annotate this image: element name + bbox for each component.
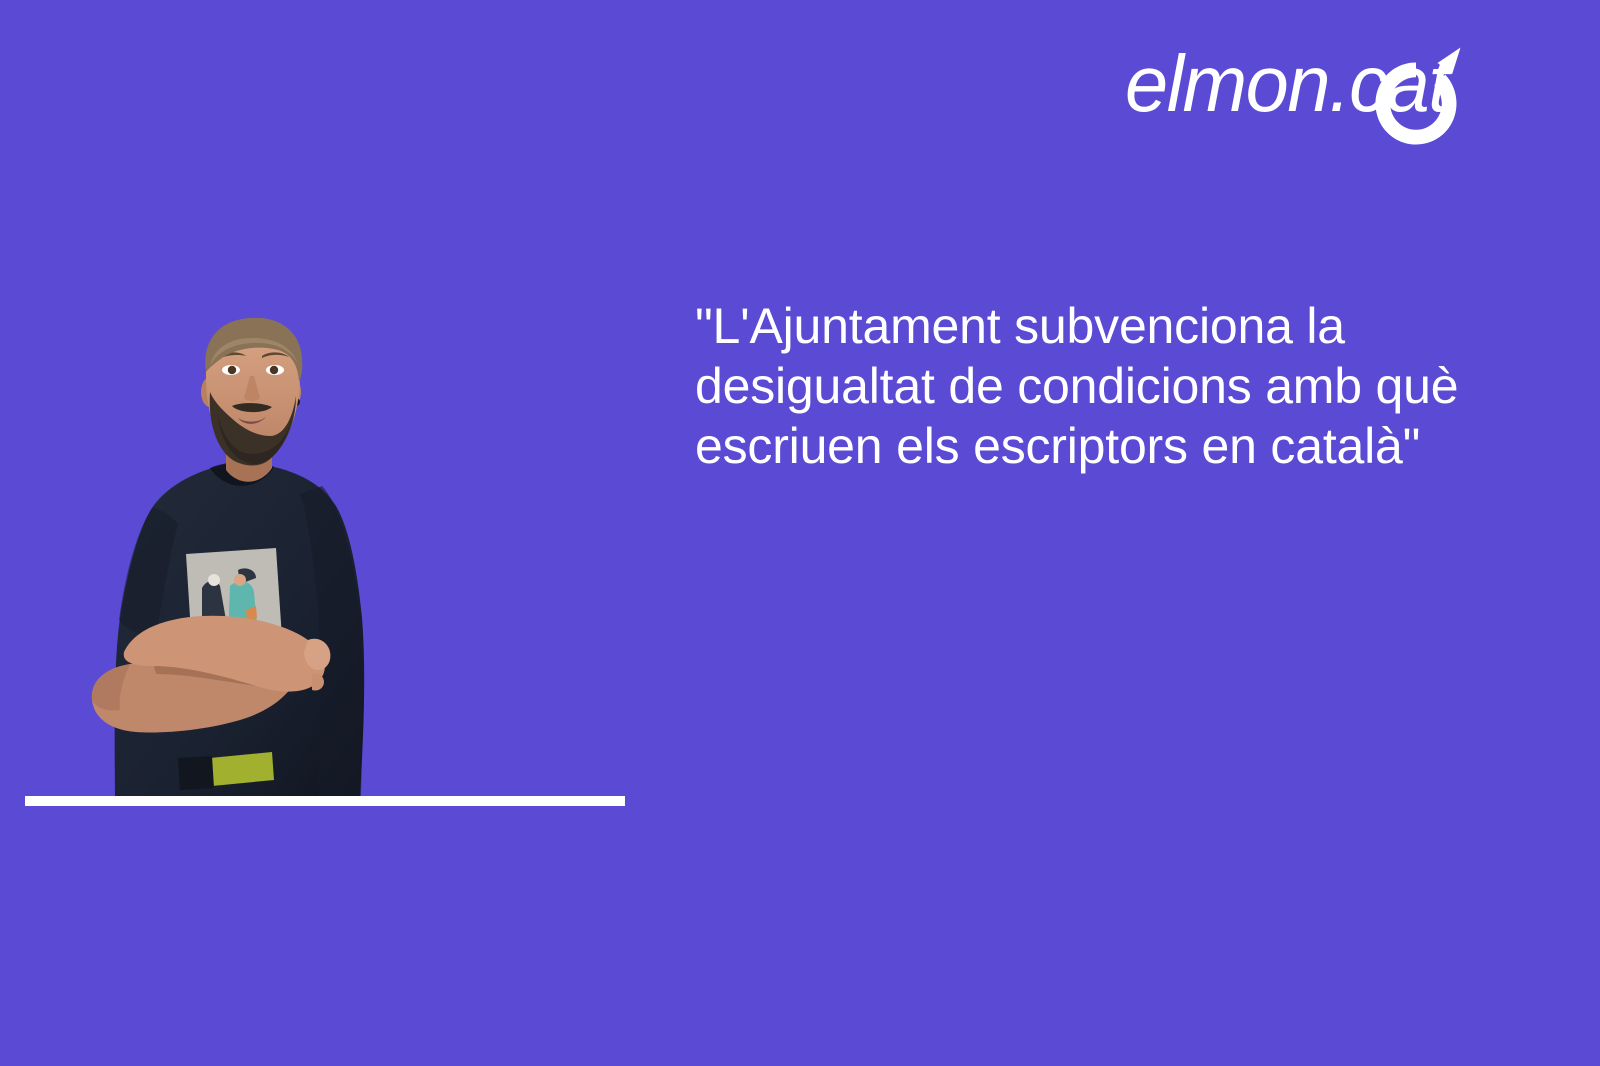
white-underline-bar <box>25 796 625 806</box>
quote-line-1: "L'Ajuntament subvenciona la <box>695 298 1345 354</box>
quote-text: "L'Ajuntament subvenciona la desigualtat… <box>695 296 1485 476</box>
portrait-photo <box>60 318 420 796</box>
quote-card: elmon.cat "L'Ajuntament subvenciona la d… <box>0 0 1600 1066</box>
quote-line-3: escriuen els escriptors en català" <box>695 418 1420 474</box>
elmon-circle-logo-icon <box>1368 44 1464 152</box>
quote-line-2: desigualtat de condicions amb què <box>695 358 1458 414</box>
